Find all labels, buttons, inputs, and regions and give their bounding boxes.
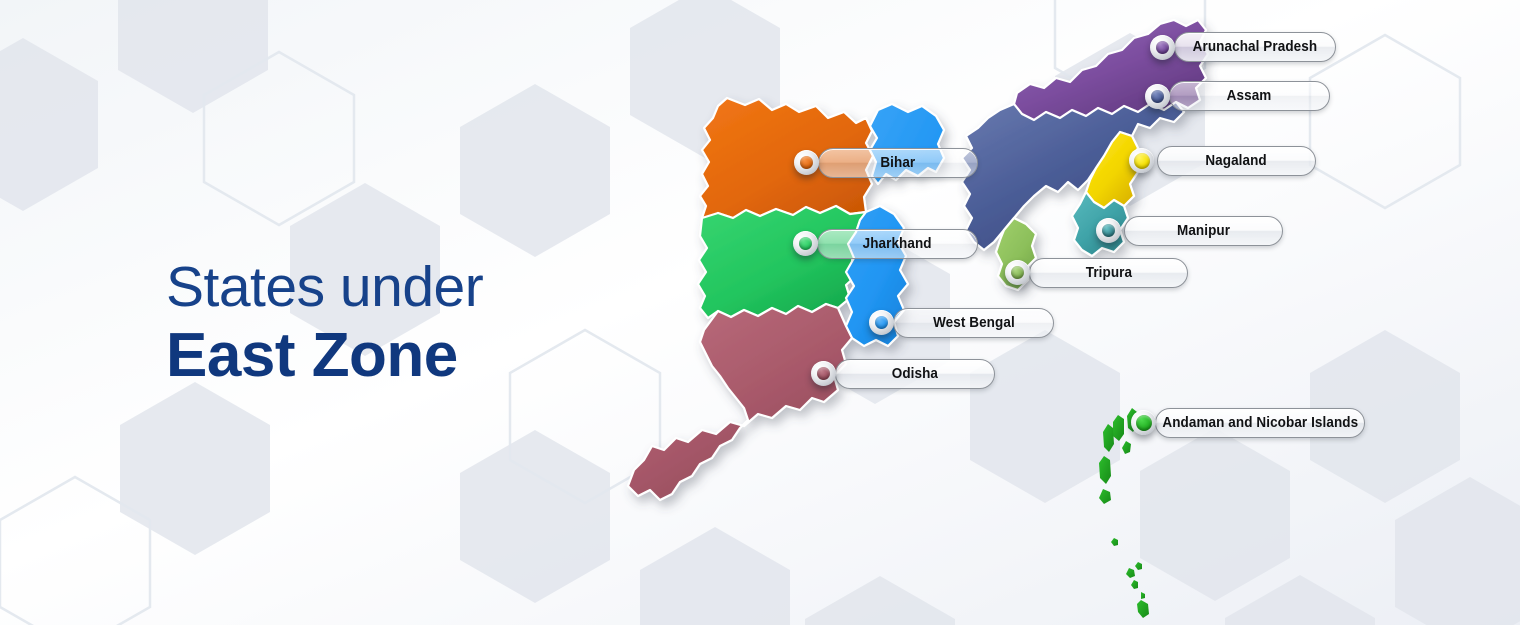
map-label-andaman[interactable]: Andaman and Nicobar Islands — [1155, 408, 1365, 438]
map-label-jharkhand[interactable]: Jharkhand — [817, 229, 978, 259]
page-title: States under East Zone — [166, 259, 483, 387]
marker-dot-odisha — [817, 367, 830, 380]
marker-dot-nagaland — [1134, 153, 1150, 169]
marker-dot-arunachal — [1156, 41, 1169, 54]
map-marker-manipur[interactable] — [1096, 218, 1121, 243]
map-state-andaman — [1099, 408, 1149, 618]
marker-dot-bihar — [800, 156, 813, 169]
map-marker-westbengal[interactable] — [869, 310, 894, 335]
map-label-assam[interactable]: Assam — [1169, 81, 1330, 111]
page-title-line2: East Zone — [166, 325, 483, 387]
map-label-odisha[interactable]: Odisha — [835, 359, 995, 389]
map-label-text-bihar: Bihar — [881, 155, 916, 171]
map-label-text-assam: Assam — [1227, 88, 1272, 104]
map-marker-arunachal[interactable] — [1150, 35, 1175, 60]
map-label-text-odisha: Odisha — [892, 366, 938, 382]
marker-dot-assam — [1151, 90, 1164, 103]
marker-dot-westbengal — [875, 316, 888, 329]
map-marker-odisha[interactable] — [811, 361, 836, 386]
map-marker-jharkhand[interactable] — [793, 231, 818, 256]
map-label-arunachal[interactable]: Arunachal Pradesh — [1174, 32, 1336, 62]
map-marker-andaman[interactable] — [1131, 410, 1156, 435]
marker-dot-manipur — [1102, 224, 1115, 237]
marker-dot-tripura — [1011, 266, 1024, 279]
map-label-manipur[interactable]: Manipur — [1124, 216, 1283, 246]
map-state-jharkhand — [698, 206, 868, 318]
map-marker-nagaland[interactable] — [1129, 148, 1154, 173]
map-label-text-nagaland: Nagaland — [1206, 153, 1267, 169]
map-marker-tripura[interactable] — [1005, 260, 1030, 285]
map-label-text-manipur: Manipur — [1177, 223, 1230, 239]
map-state-odisha — [628, 304, 852, 500]
map-marker-bihar[interactable] — [794, 150, 819, 175]
east-zone-infographic: Arunachal Pradesh Assam Nagaland Manipur… — [0, 0, 1520, 625]
map-label-text-tripura: Tripura — [1085, 265, 1131, 281]
map-label-tripura[interactable]: Tripura — [1029, 258, 1188, 288]
map-label-bihar[interactable]: Bihar — [818, 148, 978, 178]
marker-dot-jharkhand — [799, 237, 812, 250]
map-label-nagaland[interactable]: Nagaland — [1157, 146, 1316, 176]
map-label-text-westbengal: West Bengal — [933, 315, 1015, 331]
page-title-line1: States under — [166, 259, 483, 316]
map-marker-assam[interactable] — [1145, 84, 1170, 109]
map-label-text-jharkhand: Jharkhand — [863, 236, 932, 252]
map-label-westbengal[interactable]: West Bengal — [893, 308, 1054, 338]
marker-dot-andaman — [1136, 415, 1152, 431]
map-label-text-arunachal: Arunachal Pradesh — [1193, 39, 1317, 55]
map-label-text-andaman: Andaman and Nicobar Islands — [1162, 415, 1358, 431]
